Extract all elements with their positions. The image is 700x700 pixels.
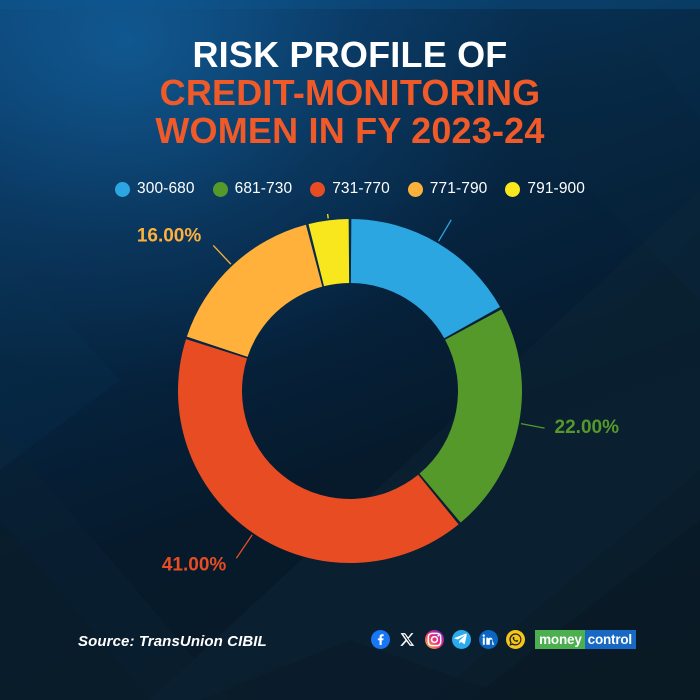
leader-line xyxy=(325,214,328,218)
leader-line xyxy=(521,424,545,429)
donut-slices xyxy=(178,219,522,563)
donut-slice-681-730[interactable] xyxy=(419,309,522,522)
slice-value-label-731-770: 41.00% xyxy=(162,554,227,575)
donut-slice-731-770[interactable] xyxy=(178,339,459,563)
legend-item-731-770[interactable]: 731-770 xyxy=(310,180,390,198)
legend-item-label: 771-790 xyxy=(430,180,488,198)
moneycontrol-logo[interactable]: moneycontrol xyxy=(535,630,636,649)
legend-swatch-icon xyxy=(310,182,325,197)
legend-item-681-730[interactable]: 681-730 xyxy=(213,180,293,198)
legend-item-771-790[interactable]: 771-790 xyxy=(408,180,488,198)
x-twitter-icon[interactable] xyxy=(398,630,417,649)
title-line-1: RISK PROFILE OF xyxy=(0,36,700,74)
telegram-icon[interactable] xyxy=(452,630,471,649)
legend-item-label: 681-730 xyxy=(235,180,293,198)
source-note: Source: TransUnion CIBIL xyxy=(78,633,267,650)
leader-line xyxy=(213,245,231,264)
legend-item-label: 731-770 xyxy=(332,180,390,198)
title-line-3: WOMEN IN FY 2023-24 xyxy=(0,112,700,150)
legend-swatch-icon xyxy=(408,182,423,197)
slice-value-label-300-680: 17.00% xyxy=(459,214,524,219)
whatsapp-icon[interactable] xyxy=(506,630,525,649)
legend-item-791-900[interactable]: 791-900 xyxy=(505,180,585,198)
page-title: RISK PROFILE OF CREDIT-MONITORING WOMEN … xyxy=(0,36,700,150)
logo-control-text: control xyxy=(585,630,636,649)
legend-swatch-icon xyxy=(115,182,130,197)
slice-value-label-771-790: 16.00% xyxy=(137,225,202,246)
legend-item-label: 300-680 xyxy=(137,180,195,198)
legend-swatch-icon xyxy=(213,182,228,197)
social-links-bar: moneycontrol xyxy=(371,630,636,649)
donut-slice-771-790[interactable] xyxy=(187,225,322,357)
legend-item-label: 791-900 xyxy=(527,180,585,198)
linkedin-icon[interactable] xyxy=(479,630,498,649)
leader-line xyxy=(236,535,252,558)
infographic-canvas: RISK PROFILE OF CREDIT-MONITORING WOMEN … xyxy=(0,0,700,700)
legend-item-300-680[interactable]: 300-680 xyxy=(115,180,195,198)
facebook-icon[interactable] xyxy=(371,630,390,649)
instagram-icon[interactable] xyxy=(425,630,444,649)
donut-chart: 17.00%22.00%41.00%16.00%4.00% xyxy=(0,214,700,604)
logo-money-text: money xyxy=(535,630,585,649)
donut-slice-300-680[interactable] xyxy=(351,219,500,338)
leader-line xyxy=(439,220,452,241)
title-line-2: CREDIT-MONITORING xyxy=(0,74,700,112)
chart-legend: 300-680 681-730 731-770 771-790 791-900 xyxy=(0,180,700,198)
slice-value-label-681-730: 22.00% xyxy=(555,417,620,438)
legend-swatch-icon xyxy=(505,182,520,197)
